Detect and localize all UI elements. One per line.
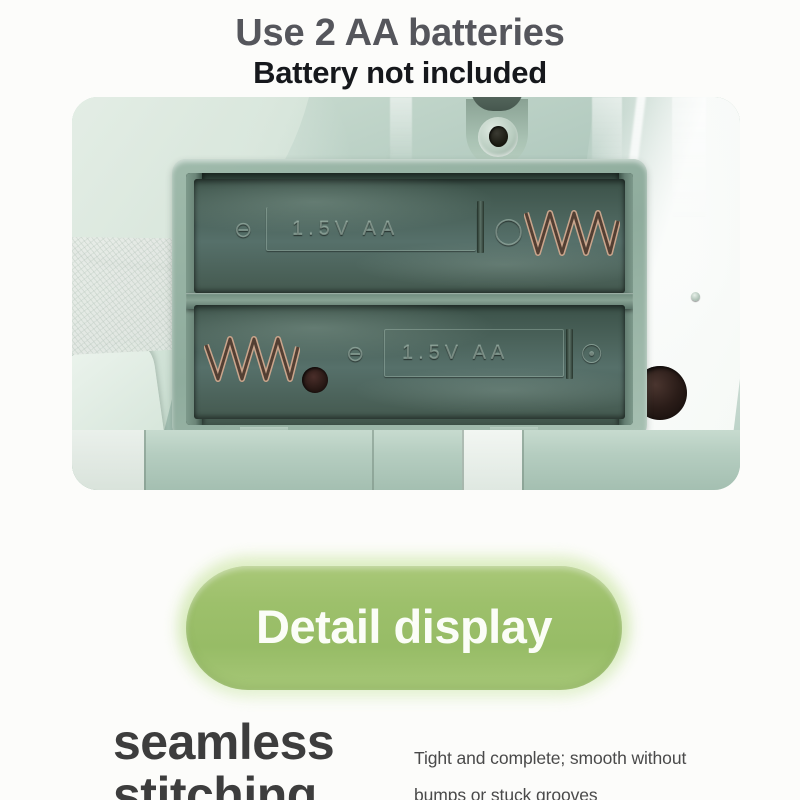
screw-hole-icon	[489, 126, 508, 147]
page-title: Use 2 AA batteries	[0, 14, 800, 54]
header-block: Use 2 AA batteries Battery not included	[0, 0, 800, 91]
bezel-seam-2	[372, 430, 374, 490]
battery-bay-inner: ⊖ 1.5V AA ◯	[186, 173, 633, 425]
slot-2-contact-post	[566, 329, 573, 379]
shell-rib-3	[672, 97, 706, 217]
product-bezel	[72, 430, 740, 490]
battery-slot-1: ⊖ 1.5V AA ◯	[194, 179, 625, 293]
feature-description-line-2: bumps or stuck grooves	[414, 777, 754, 800]
feature-description: Tight and complete; smooth without bumps…	[414, 740, 754, 800]
shell-rib-1	[390, 97, 412, 159]
slot-1-negative-symbol: ⊖	[234, 217, 252, 243]
product-photo: ⊖ 1.5V AA ◯	[72, 97, 740, 490]
slot-1-label: 1.5V AA	[292, 218, 399, 241]
slot-1-spring-icon	[524, 205, 620, 261]
detail-display-badge-label: Detail display	[256, 603, 552, 653]
detail-display-badge[interactable]: Detail display	[186, 566, 622, 690]
screw-pin-icon	[691, 292, 700, 301]
battery-slot-2: ⊖ 1.5V AA ☉	[194, 305, 625, 419]
shell-rib-2	[592, 97, 622, 159]
bezel-seam-3	[462, 430, 464, 490]
page-subtitle: Battery not included	[0, 56, 800, 91]
bezel-panel-center	[462, 430, 522, 490]
slot-2-label: 1.5V AA	[402, 342, 509, 365]
feature-description-line-1: Tight and complete; smooth without	[414, 740, 754, 777]
bezel-seam-4	[522, 430, 524, 490]
slot-1-positive-symbol: ◯	[494, 215, 523, 246]
battery-bay-frame: ⊖ 1.5V AA ◯	[172, 159, 647, 439]
slot-1-contact-post	[477, 201, 484, 253]
slot-2-negative-symbol: ⊖	[346, 341, 364, 367]
bezel-seam-1	[144, 430, 146, 490]
feature-block: seamless stitching Tight and complete; s…	[0, 716, 800, 800]
feature-title: seamless stitching	[113, 716, 413, 800]
slot-2-vent-hole-icon	[302, 367, 328, 393]
bezel-panel-left	[72, 430, 144, 490]
slot-2-spring-icon	[204, 329, 300, 385]
slot-2-positive-symbol: ☉	[580, 339, 603, 370]
product-shell: ⊖ 1.5V AA ◯	[72, 97, 740, 490]
